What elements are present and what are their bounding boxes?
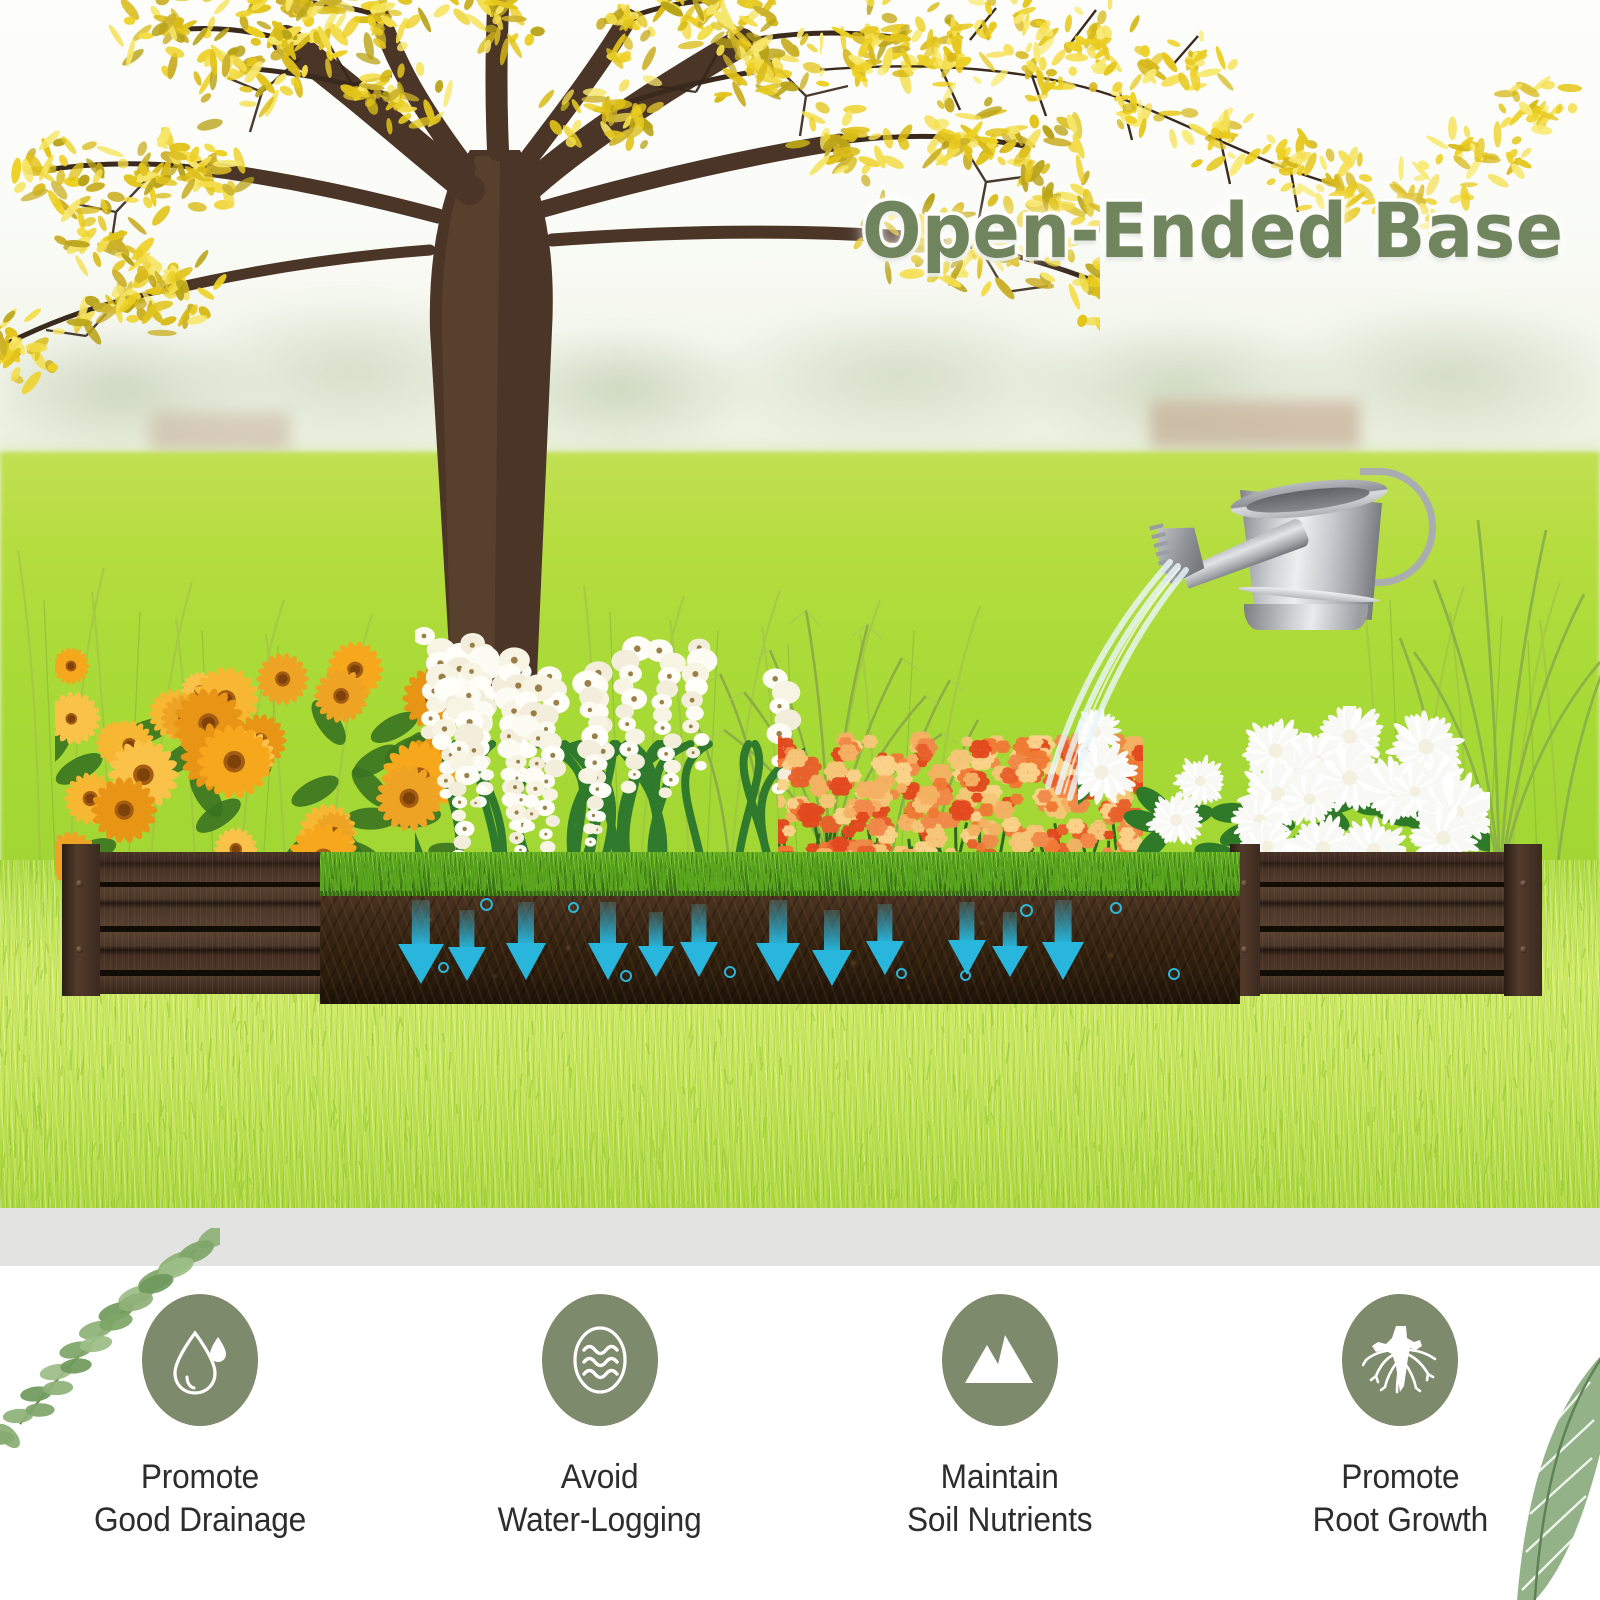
water-bubble-icon	[480, 898, 493, 911]
bed-panel-left	[62, 852, 324, 994]
feature-label-line2: Good Drainage	[94, 1499, 306, 1542]
feature-label-line1: Avoid	[498, 1456, 702, 1499]
bed-post-right	[1504, 844, 1542, 996]
feature-label: Promote Root Growth	[1312, 1456, 1487, 1542]
water-waves-icon	[566, 1320, 634, 1400]
water-stream	[1000, 540, 1230, 860]
tree-canopy-right	[820, 0, 1600, 330]
palm-leaf-decor	[1464, 1346, 1600, 1600]
headline-open-ended-base: Open-Ended Base	[862, 186, 1564, 275]
mountain-icon	[965, 1331, 1035, 1389]
drainage-arrow	[638, 912, 674, 978]
feature-item-water-logging[interactable]: Avoid Water-Logging	[400, 1266, 800, 1542]
drainage-arrow	[812, 910, 852, 986]
feature-label-line2: Root Growth	[1312, 1499, 1487, 1542]
feature-list: Promote Good Drainage Avoid Water-Loggin…	[0, 1266, 1600, 1600]
feature-label-line2: Water-Logging	[498, 1499, 702, 1542]
bed-cross-section	[320, 852, 1240, 1004]
drainage-arrow	[680, 904, 718, 978]
drainage-arrow	[948, 902, 986, 976]
water-drop-icon	[169, 1323, 231, 1397]
feature-label-line1: Promote	[94, 1456, 306, 1499]
feature-label: Promote Good Drainage	[94, 1456, 306, 1542]
drainage-arrow	[588, 902, 628, 980]
feature-icon-circle	[1342, 1294, 1458, 1426]
drainage-arrow	[866, 904, 904, 976]
water-bubble-icon	[724, 966, 736, 978]
can-base	[1244, 604, 1368, 630]
feature-icon-circle	[542, 1294, 658, 1426]
drainage-arrow	[992, 912, 1028, 978]
feature-item-soil-nutrients[interactable]: Maintain Soil Nutrients	[800, 1266, 1200, 1542]
hero-photo: Open-Ended Base	[0, 0, 1600, 1208]
water-bubble-icon	[438, 962, 449, 973]
bed-post-left	[62, 844, 100, 996]
water-bubble-icon	[1020, 904, 1033, 917]
divider-gray-band	[0, 1208, 1600, 1266]
feature-label: Maintain Soil Nutrients	[907, 1456, 1092, 1542]
sunflower-group	[55, 620, 455, 880]
drainage-arrow-group	[320, 896, 1240, 1004]
feature-label-line1: Maintain	[907, 1456, 1092, 1499]
water-bubble-icon	[896, 968, 907, 979]
drainage-arrow	[1042, 900, 1084, 980]
feature-label-line2: Soil Nutrients	[907, 1499, 1092, 1542]
drainage-arrow	[756, 900, 800, 982]
plant-roots-icon	[1362, 1324, 1438, 1396]
water-bubble-icon	[620, 970, 632, 982]
drainage-arrow	[506, 902, 546, 980]
white-hyacinth-group	[415, 596, 805, 876]
water-bubble-icon	[568, 902, 579, 913]
feature-item-drainage[interactable]: Promote Good Drainage	[0, 1266, 400, 1542]
feature-label: Avoid Water-Logging	[498, 1456, 702, 1542]
feature-icon-circle	[942, 1294, 1058, 1426]
feature-icon-circle	[142, 1294, 258, 1426]
feature-label-line1: Promote	[1312, 1456, 1487, 1499]
water-bubble-icon	[1110, 902, 1122, 914]
water-bubble-icon	[1168, 968, 1180, 980]
drainage-arrow	[398, 900, 444, 984]
water-bubble-icon	[960, 970, 971, 981]
product-feature-image: Open-Ended Base Promote Good Drainage	[0, 0, 1600, 1600]
drainage-arrow	[448, 910, 486, 982]
